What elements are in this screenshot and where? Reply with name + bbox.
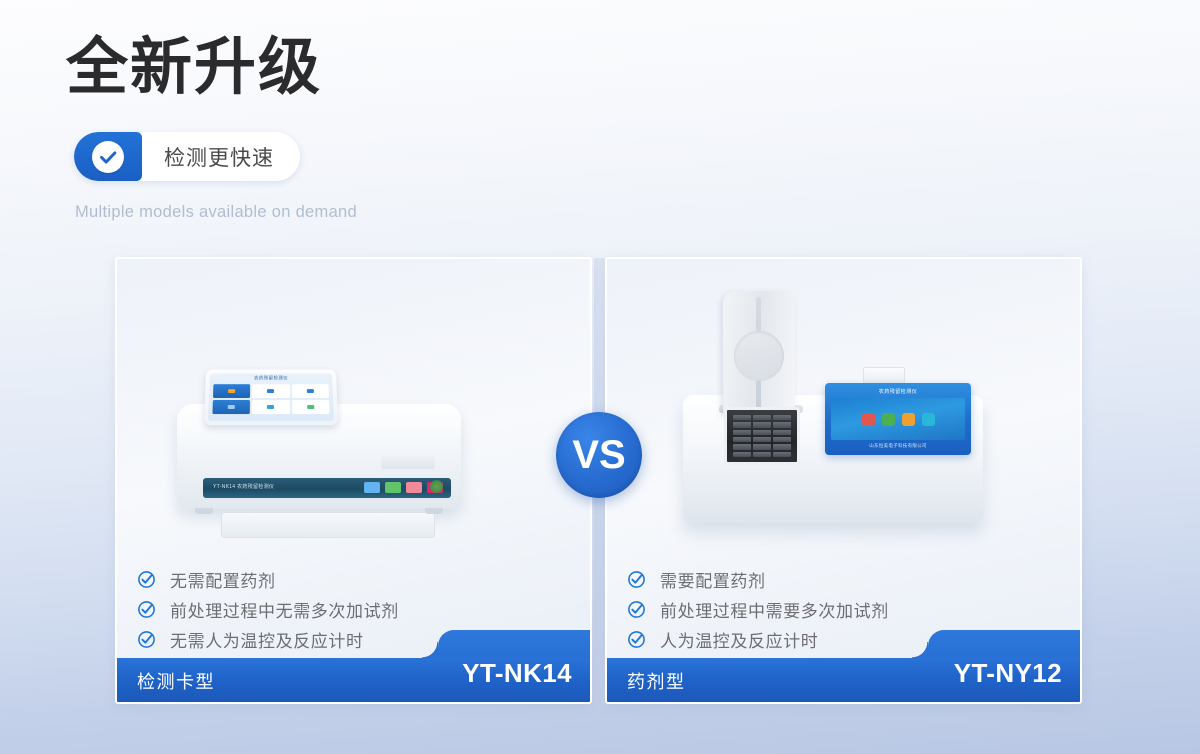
product-type-label: 药剂型 (627, 668, 686, 694)
panel-icon-cyan (922, 413, 935, 426)
well-cell (733, 415, 751, 420)
screen-tile (213, 384, 251, 398)
screen-tile (292, 400, 330, 414)
device-logo-icon (430, 480, 443, 493)
device-foot-right (425, 508, 443, 514)
screen-tile (292, 384, 330, 398)
product-type-label: 检测卡型 (137, 668, 215, 694)
indicator-blue (364, 482, 380, 493)
panel-title: 农药残留检测仪 (831, 388, 965, 395)
well-cell (733, 430, 751, 435)
device-illustration-card-reader: YT-NK14 农药残留检测仪 (169, 369, 469, 519)
well-cell (753, 437, 771, 442)
vs-badge: VS (556, 412, 642, 498)
panel-subtitle: 山东恒美电子科技有限公司 (831, 443, 965, 449)
indicator-pink (406, 482, 422, 493)
model-tab-right (928, 630, 1082, 658)
well-cell (773, 444, 791, 449)
feature-label: 人为温控及反应计时 (660, 627, 818, 652)
page-subtitle: Multiple models available on demand (75, 203, 357, 222)
feature-label: 需要配置药剂 (660, 567, 766, 592)
card-label-bar-left: 检测卡型 YT-NK14 (115, 658, 592, 704)
device-screen-tiles (212, 384, 329, 414)
well-cell (773, 437, 791, 442)
well-cell (753, 444, 771, 449)
badge-label: 检测更快速 (142, 142, 274, 172)
check-circle-icon (92, 141, 124, 173)
panel-icon-red (862, 413, 875, 426)
device-lid (723, 291, 795, 415)
well-cell (773, 415, 791, 420)
well-cell (773, 430, 791, 435)
screen-tile (252, 384, 289, 398)
device-illustration-reagent-analyzer: 农药残留检测仪 山东恒美电子科技有限公司 (677, 287, 997, 535)
page-title: 全新升级 (66, 34, 322, 99)
check-circle-icon (135, 569, 157, 591)
well-cell (733, 452, 751, 457)
well-column (733, 415, 751, 457)
product-image-left: YT-NK14 农药残留检测仪 (117, 259, 590, 559)
device-control-panel: 农药残留检测仪 山东恒美电子科技有限公司 (825, 383, 971, 455)
feature-label: 前处理过程中需要多次加试剂 (660, 597, 889, 622)
well-cell (753, 415, 771, 420)
panel-icon-orange (902, 413, 915, 426)
panel-icon-green (882, 413, 895, 426)
model-tab-left (438, 630, 592, 658)
indicator-green (385, 482, 401, 493)
product-card-left[interactable]: YT-NK14 农药残留检测仪 (115, 257, 592, 704)
device-sample-drawer (221, 512, 435, 538)
device-lid-ring (734, 331, 784, 381)
panel-screen (831, 398, 965, 440)
check-circle-icon (625, 629, 647, 651)
list-item: 前处理过程中需要多次加试剂 (625, 595, 1070, 624)
product-image-right: 农药残留检测仪 山东恒美电子科技有限公司 (607, 259, 1080, 559)
well-cell (753, 422, 771, 427)
device-vent-panel (381, 456, 435, 469)
vs-label: VS (572, 433, 625, 478)
device-screen-ui: 农药残留检测仪 (208, 373, 334, 421)
product-card-right[interactable]: 农药残留检测仪 山东恒美电子科技有限公司 (605, 257, 1082, 704)
well-cell (733, 444, 751, 449)
feature-label: 无需配置药剂 (170, 567, 276, 592)
well-cell (773, 452, 791, 457)
badge-icon-cap (74, 132, 142, 181)
check-circle-icon (625, 569, 647, 591)
device-foot-left (195, 508, 213, 514)
well-column (753, 415, 771, 457)
card-label-bar-right: 药剂型 YT-NY12 (605, 658, 1082, 704)
well-cell (733, 437, 751, 442)
device-screen-title: 农药残留检测仪 (210, 375, 333, 381)
check-circle-icon (135, 599, 157, 621)
device-touchscreen: 农药残留检测仪 (204, 370, 338, 426)
well-cell (773, 422, 791, 427)
list-item: 前处理过程中无需多次加试剂 (135, 595, 580, 624)
product-model-label: YT-NK14 (462, 658, 572, 689)
well-cell (753, 452, 771, 457)
device-front-band: YT-NK14 农药残留检测仪 (203, 478, 451, 498)
well-cell (753, 430, 771, 435)
feature-badge: 检测更快速 (74, 132, 300, 181)
feature-label: 无需人为温控及反应计时 (170, 627, 364, 652)
device-band-text: YT-NK14 农药残留检测仪 (213, 483, 274, 490)
feature-label: 前处理过程中无需多次加试剂 (170, 597, 399, 622)
product-model-label: YT-NY12 (954, 658, 1062, 689)
list-item: 需要配置药剂 (625, 565, 1070, 594)
screen-tile (212, 400, 250, 414)
well-cell (733, 422, 751, 427)
screen-tile (252, 400, 290, 414)
check-circle-icon (135, 629, 157, 651)
list-item: 无需配置药剂 (135, 565, 580, 594)
device-cuvette-well-block (724, 407, 800, 465)
well-column (773, 415, 791, 457)
check-circle-icon (625, 599, 647, 621)
poster-stage: 全新升级 检测更快速 Multiple models available on … (0, 0, 1200, 754)
